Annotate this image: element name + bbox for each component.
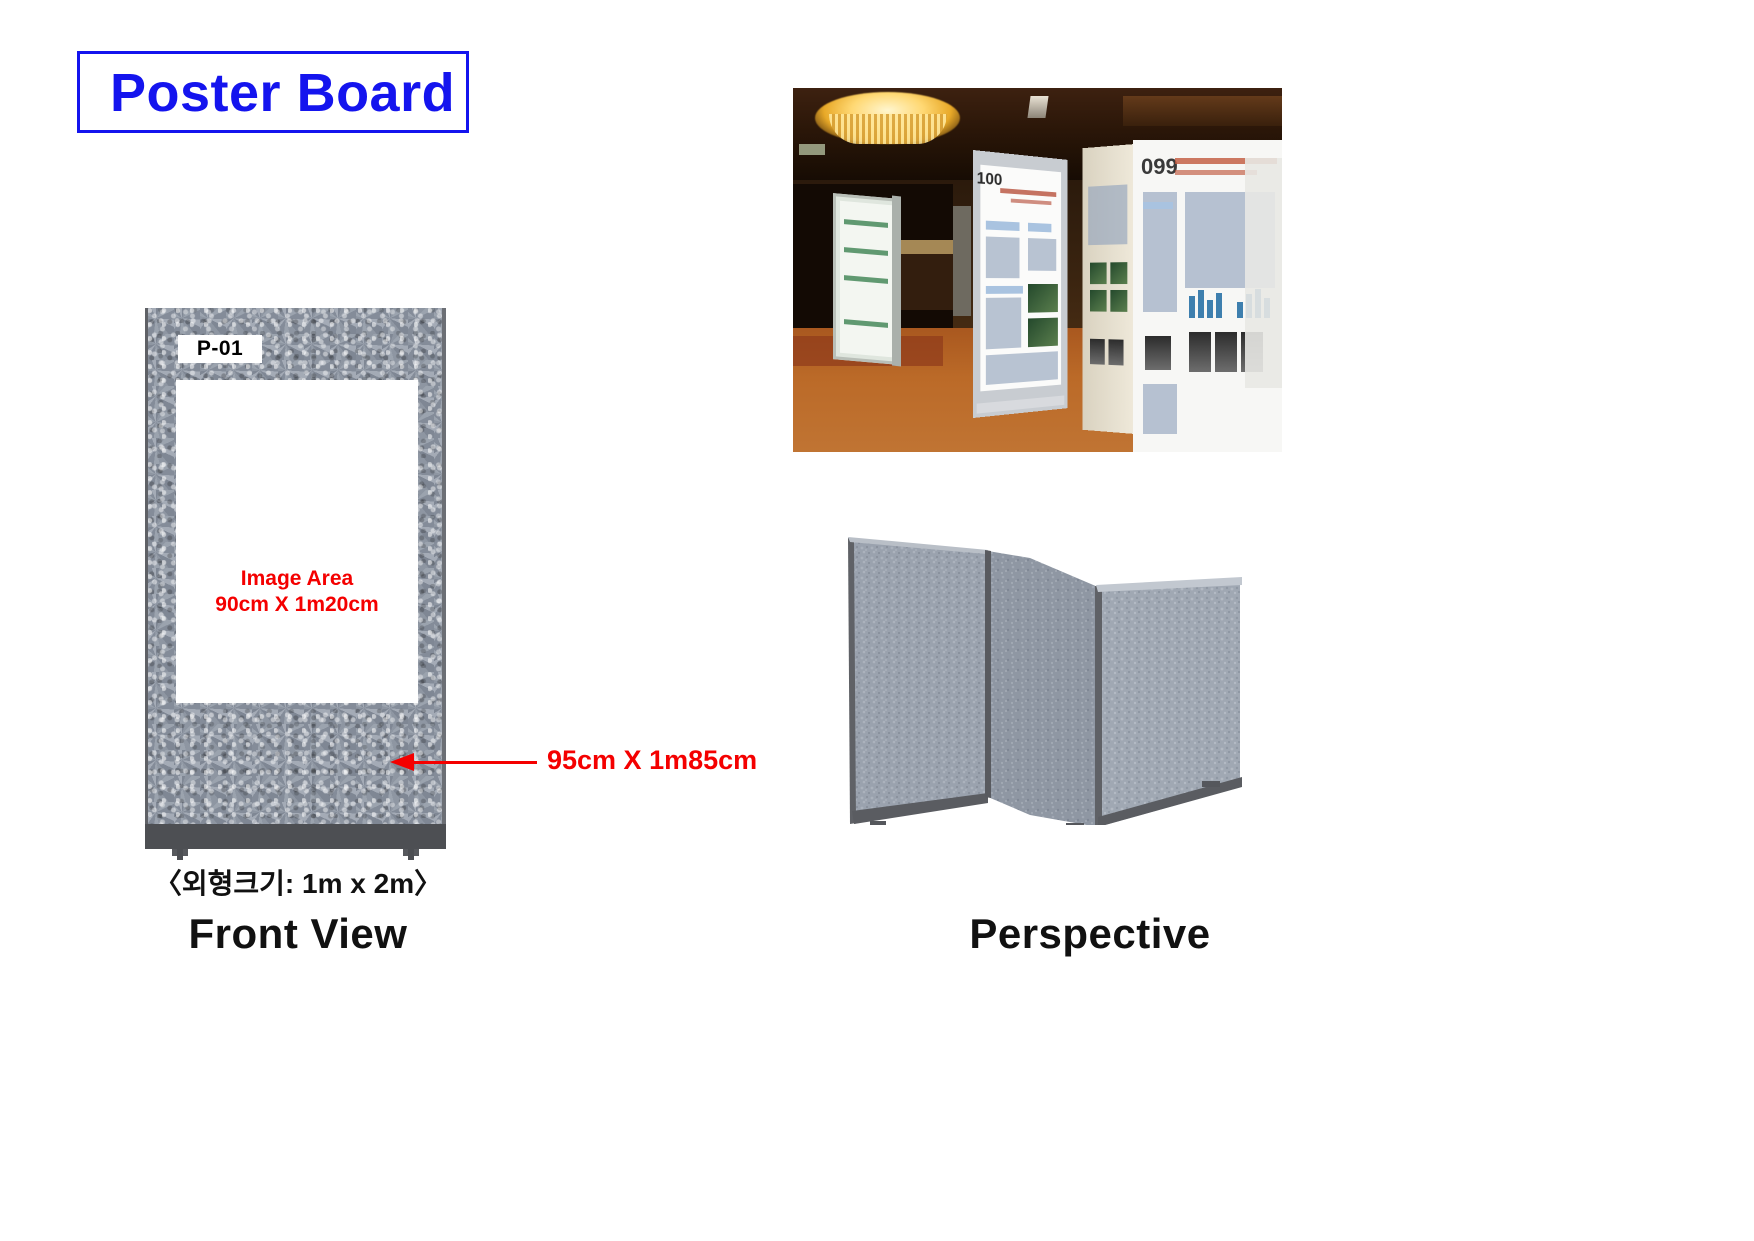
photo-poster-100-header-c [986, 286, 1023, 294]
callout-leader-line [412, 761, 537, 764]
photo-side-strip-a [1090, 339, 1105, 365]
perspective-foot-right [1202, 781, 1220, 787]
image-area-caption: Image Area 90cm X 1m20cm [176, 566, 418, 618]
photo-panel-middle [953, 206, 971, 316]
chandelier-beads [829, 114, 947, 144]
perspective-panel-center [988, 551, 1030, 815]
photo-poster-099-text-c [1143, 384, 1177, 434]
ceiling-spotlight-icon [1027, 96, 1048, 118]
photo-poster-099-text-a [1143, 192, 1177, 312]
image-area-line1: Image Area [176, 566, 418, 592]
photo-chart-bar [1189, 296, 1195, 318]
perspective-label: Perspective [900, 910, 1280, 958]
photo-poster-100-text-c [986, 297, 1021, 349]
photo-side-text-a [1088, 184, 1127, 245]
photo-poster-099-header-a [1143, 202, 1173, 209]
board-foot-stem-left [177, 849, 183, 860]
perspective-svg [830, 525, 1250, 825]
photo-poster-board-side [1083, 144, 1135, 434]
perspective-foot-left [870, 821, 886, 825]
photo-poster-100-figure-a [1028, 284, 1058, 313]
perspective-foot-center [1066, 823, 1084, 825]
photo-side-figure-b [1110, 262, 1127, 284]
photo-side-figure-a [1090, 262, 1107, 284]
perspective-panel-right-edge [1095, 586, 1102, 825]
photo-poster-100-figure-b [1028, 318, 1058, 348]
board-right-edge [442, 308, 446, 826]
photo-poster-100-text-b [1028, 238, 1056, 271]
callout-arrowhead-icon [390, 753, 414, 771]
photo-poster-100-title [1000, 188, 1056, 197]
photo-099-strip-c [1215, 332, 1237, 372]
outer-size-caption: 〈외형크기: 1m x 2m〉 [148, 862, 448, 902]
outer-dimension-callout: 95cm X 1m85cm [547, 745, 757, 776]
photo-099-strip-b [1189, 332, 1211, 372]
photo-poster-100-header-b [1028, 223, 1051, 233]
photo-chart-bar [1216, 293, 1222, 318]
image-area-line2: 90cm X 1m20cm [176, 592, 418, 618]
front-view-label: Front View [128, 910, 468, 958]
slide-canvas: Poster Board P-01 Image Area 90cm X 1m20… [0, 0, 1754, 1241]
photo-poster-100-text-d [986, 351, 1058, 385]
photo-099-strip-a [1145, 336, 1171, 370]
photo-side-figure-c [1090, 290, 1107, 312]
photo-poster-100-sheet [980, 165, 1061, 392]
board-foot-stem-right [408, 849, 414, 860]
photo-poster-number-099: 099 [1141, 154, 1178, 180]
front-view-diagram: P-01 Image Area 90cm X 1m20cm [145, 308, 455, 853]
photo-poster-100-text-a [986, 236, 1020, 278]
photo-chart-bar [1198, 290, 1204, 318]
image-area-rect: Image Area 90cm X 1m20cm [176, 380, 418, 703]
photo-poster-far-edge [892, 196, 901, 367]
photo-poster-board-rightmost [1245, 158, 1282, 388]
perspective-panel-joint [1030, 558, 1098, 825]
photo-side-figure-d [1110, 290, 1127, 312]
photo-ceiling-trim [1123, 96, 1282, 126]
poster-session-photo: 100 099 [793, 88, 1282, 452]
perspective-panel-center-edge [985, 550, 991, 798]
photo-chart-bar [1207, 300, 1213, 318]
board-base-rail [145, 824, 446, 849]
perspective-panel-left [850, 538, 986, 824]
exit-sign-icon [799, 144, 825, 155]
photo-chart-bar [1237, 302, 1243, 318]
photo-poster-far-sheet [840, 201, 892, 358]
perspective-diagram [830, 525, 1250, 825]
photo-poster-100-header-a [986, 221, 1020, 231]
photo-poster-board-100: 100 [973, 150, 1068, 418]
photo-poster-board-far [833, 193, 899, 365]
panel-number-label: P-01 [178, 335, 262, 363]
board-panel: P-01 Image Area 90cm X 1m20cm [148, 308, 443, 826]
photo-side-strip-b [1108, 339, 1123, 365]
photo-poster-number-100: 100 [977, 168, 1003, 190]
page-title: Poster Board [110, 58, 450, 128]
photo-poster-100-subtitle [1011, 199, 1052, 206]
